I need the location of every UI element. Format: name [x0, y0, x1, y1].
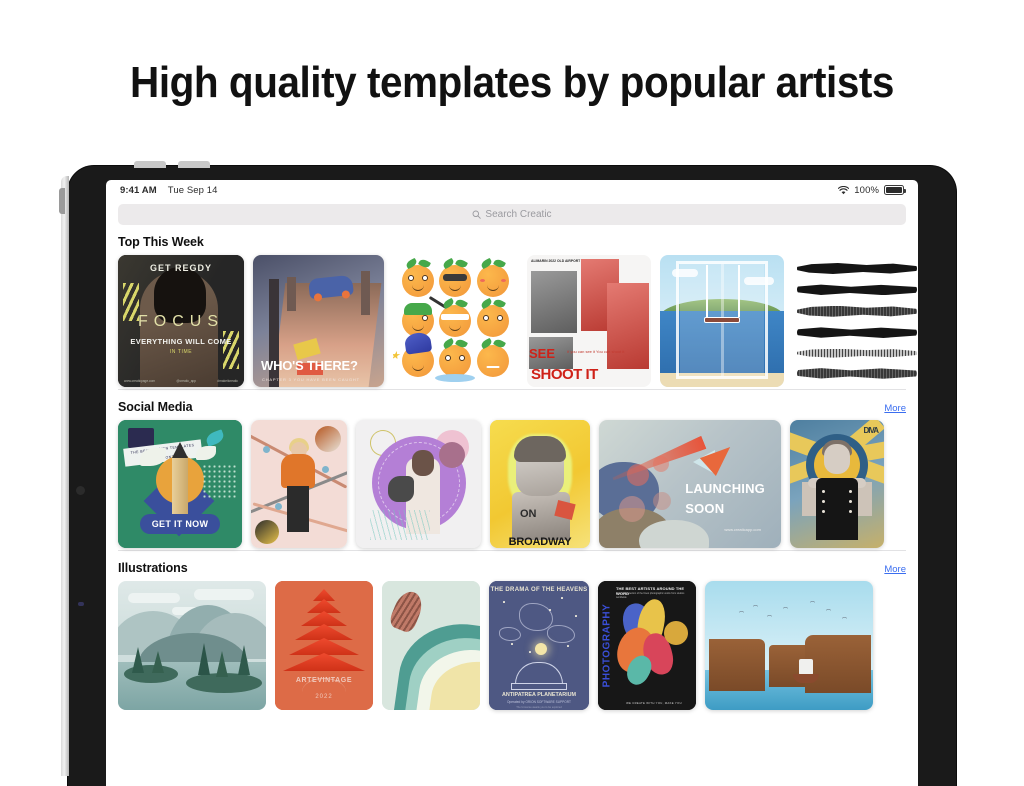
card-row: ARTEVINTAGE 2022 THE DRAMA OF THE HEAVEN… — [118, 581, 906, 710]
device-left-edge — [61, 176, 69, 776]
banner-title: LAUNCHING SOON — [685, 479, 765, 518]
card-shoot-it-poster[interactable]: ALIMARIN 2022 OLD AIRPORT SEE If you can… — [527, 255, 651, 387]
rocket-icon — [691, 442, 733, 468]
sticker-grid: ★ — [399, 261, 512, 381]
ball-shape — [315, 426, 341, 452]
dot — [627, 464, 649, 486]
section-illustrations: Illustrations More — [106, 550, 918, 710]
search-input[interactable]: Search Creatic — [118, 204, 906, 225]
tree-shape — [132, 647, 144, 673]
dot — [263, 446, 270, 453]
pencil-icon — [172, 456, 188, 520]
photo-tile — [607, 283, 649, 369]
card-photography-poster[interactable]: PHOTOGRAPHY THE BEST ARTISTS AROUND THE … — [598, 581, 696, 710]
status-time: 9:41 AM — [120, 185, 157, 196]
brush-stroke — [797, 349, 917, 358]
brush-stroke-list — [797, 263, 917, 379]
constellation-shape — [499, 627, 521, 641]
rope — [738, 265, 740, 317]
poster-title: BROADWAY — [490, 536, 590, 548]
device-volume-up-button[interactable] — [134, 161, 166, 168]
section-header: Top This Week — [118, 225, 906, 255]
plum-circle — [439, 442, 465, 468]
figure-dress — [816, 478, 858, 540]
poster-footer: www.creaticpage.com @creatic_app #makeit… — [124, 379, 238, 383]
banner-title-line2: SOON — [685, 499, 765, 519]
poster-subtitle-2: The Universe awaits you to be explored — [489, 706, 589, 709]
card-swing-lake-illustration[interactable] — [660, 255, 784, 387]
card-fashion-collage[interactable] — [251, 420, 347, 548]
constellation-shape — [519, 603, 553, 631]
poster-footer-mid: @creatic_app — [176, 379, 196, 383]
photo-tile — [531, 271, 577, 333]
cloud-shape — [128, 593, 180, 603]
poster-side-label: PHOTOGRAPHY — [602, 604, 613, 688]
section-title: Illustrations — [118, 561, 188, 575]
boxing-glove-icon — [388, 476, 414, 502]
search-area: Search Creatic — [106, 200, 918, 225]
constellation-shape — [547, 625, 575, 643]
section-social-media: Social Media More THE BEST DESIGN TEMPLA… — [106, 389, 918, 548]
banner-title-line1: LAUNCHING — [685, 479, 765, 499]
tree-shape — [152, 651, 164, 673]
figure-head — [824, 444, 850, 474]
device-port — [78, 602, 84, 606]
section-more-link[interactable]: More — [884, 564, 906, 575]
status-bar: 9:41 AM Tue Sep 14 100% — [106, 180, 918, 200]
poster-word-on: ON — [520, 508, 537, 520]
card-boxer-collage[interactable] — [356, 420, 481, 548]
abstract-blob — [664, 621, 688, 645]
wifi-icon — [838, 186, 849, 195]
section-header: Illustrations More — [118, 551, 906, 581]
poster-footer-right: #makeitcreatic — [217, 379, 238, 383]
card-lake-mountains-illustration[interactable] — [118, 581, 266, 710]
orange-sticker-plain — [477, 305, 509, 337]
figure-legs — [287, 486, 309, 532]
dot — [653, 492, 671, 510]
tree-shape — [238, 645, 250, 675]
brush-stroke — [797, 327, 917, 338]
tree-shape — [287, 277, 296, 311]
brush-stroke — [797, 284, 917, 295]
poster-subtitle: EVERYTHING WILL COME — [118, 337, 244, 346]
orange-sticker-blush — [477, 265, 509, 297]
figure-top — [281, 454, 315, 488]
poster-kicker: ALIMARIN 2022 OLD AIRPORT — [531, 259, 580, 264]
sun-icon — [535, 643, 547, 655]
tree-shape — [198, 643, 210, 675]
card-vintage-woman-collage[interactable]: DIVA — [790, 420, 884, 548]
cloud-shape — [194, 589, 254, 600]
tree-shape — [361, 271, 370, 315]
brush-stroke — [797, 368, 917, 379]
card-get-it-now-poster[interactable]: THE BEST DESIGN TEMPLATES SAVE MONEY GET… — [118, 420, 242, 548]
section-title: Top This Week — [118, 235, 204, 249]
car-icon — [308, 275, 354, 299]
orange-sticker-surprised — [402, 265, 434, 297]
search-icon — [472, 210, 481, 219]
collage-title: DIVA — [863, 426, 878, 435]
device-side-button[interactable] — [59, 188, 65, 214]
dot — [653, 456, 669, 472]
orange-sticker-sunglasses — [439, 265, 471, 297]
poster-title: ARTEVINTAGE — [275, 677, 373, 684]
tree-shape — [216, 651, 228, 677]
section-title: Social Media — [118, 400, 193, 414]
card-row: THE BEST DESIGN TEMPLATES SAVE MONEY GET… — [118, 420, 906, 548]
section-header: Social Media More — [118, 390, 906, 420]
get-it-now-button[interactable]: GET IT NOW — [140, 514, 220, 534]
figure-head — [412, 450, 434, 476]
poster-subtitle: CHAPTER 3 YOU HAVE BEEN CAUGHT — [262, 377, 360, 382]
dot — [275, 503, 282, 510]
figure-hair — [514, 436, 566, 462]
card-boat-waves-illustration[interactable] — [382, 581, 480, 710]
brush-stroke — [797, 306, 917, 317]
poster-title: FOCUS — [118, 313, 244, 331]
battery-percent: 100% — [854, 185, 879, 196]
orange-sticker-crying — [439, 345, 471, 377]
poster-footer: WE CREATE WITH YOU, MAKE YOU — [616, 701, 692, 705]
page-title: High quality templates by popular artist… — [41, 58, 983, 108]
card-planetarium-poster[interactable]: THE DRAMA OF THE HEAVENS ANTIPATREA PLAN… — [489, 581, 589, 710]
brush-stroke — [797, 263, 917, 274]
poster-title: WHO'S THERE? — [261, 358, 358, 373]
orange-sticker-neutral — [477, 345, 509, 377]
poster-side-title: PHOTOGRAPHY — [600, 589, 614, 702]
poster-venue: ANTIPATREA PLANETARIUM — [489, 692, 589, 698]
device-volume-down-button[interactable] — [178, 161, 210, 168]
battery-icon — [884, 185, 904, 195]
section-more-link[interactable]: More — [884, 403, 906, 414]
cliff-shape — [709, 639, 765, 691]
status-date: Tue Sep 14 — [168, 185, 218, 196]
swing-seat — [704, 317, 740, 323]
card-whos-there-poster[interactable]: WHO'S THERE? CHAPTER 3 YOU HAVE BEEN CAU… — [253, 255, 384, 387]
tablet-device: 9:41 AM Tue Sep 14 100% Search Creatic — [68, 166, 956, 786]
card-artevintage-poster[interactable]: ARTEVINTAGE 2022 — [275, 581, 373, 710]
poster-title: THE DRAMA OF THE HEAVENS — [489, 587, 589, 593]
section-top-this-week: Top This Week GET REGDY FOCUS EVERYTHING… — [106, 225, 918, 387]
poster-title: SHOOT IT — [531, 366, 649, 383]
grid-decor — [370, 510, 430, 540]
search-placeholder: Search Creatic — [485, 209, 551, 220]
dot-pattern — [202, 464, 236, 498]
card-on-broadway-poster[interactable]: ON BROADWAY — [490, 420, 590, 548]
card-launching-soon-banner[interactable]: LAUNCHING SOON www.creaticapp.com — [599, 420, 781, 548]
poster-subtitle: Operated by ORION SOFTWARE SUPPORT — [489, 700, 589, 704]
poster-year: 2022 — [275, 694, 373, 700]
poster-word-see: SEE — [529, 346, 555, 361]
poster-subtitle-2: IN TIME — [118, 349, 244, 355]
base-shape — [511, 683, 567, 690]
card-focus-poster[interactable]: GET REGDY FOCUS EVERYTHING WILL COME IN … — [118, 255, 244, 387]
tablet-screen: 9:41 AM Tue Sep 14 100% Search Creatic — [106, 180, 918, 786]
orange-sticker-ninja — [439, 305, 471, 337]
dot — [322, 466, 329, 473]
device-camera — [76, 486, 85, 495]
status-right-group: 100% — [838, 185, 904, 196]
dot — [619, 496, 645, 522]
ship-icon — [793, 659, 819, 683]
poster-note: If you can see it You can shoot it — [567, 349, 624, 355]
ball-shape — [255, 520, 279, 544]
card-cliffs-ship-illustration[interactable]: ︵ ︵ ︵ ︵ ︵ ︵ ︵ — [705, 581, 873, 710]
card-row: GET REGDY FOCUS EVERYTHING WILL COME IN … — [118, 255, 906, 387]
card-orange-stickers[interactable]: ★ — [393, 255, 518, 387]
rope — [706, 265, 708, 317]
orange-sticker-wizard: ★ — [402, 345, 434, 377]
banner-url: www.creaticapp.com — [724, 527, 761, 532]
poster-footer-left: www.creaticpage.com — [124, 379, 155, 383]
card-brush-strokes-pack[interactable] — [793, 255, 918, 387]
poster-kicker: GET REGDY — [118, 263, 244, 273]
